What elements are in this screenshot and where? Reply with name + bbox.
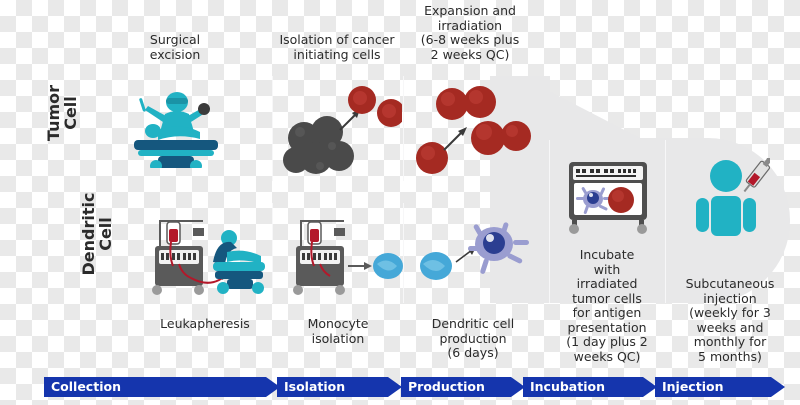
timeline-step-production[interactable]: Production	[401, 377, 511, 397]
divider-top-1	[272, 76, 273, 181]
timeline-step-collection[interactable]: Collection	[44, 377, 266, 397]
dendritic-cell-label-line2: Cell	[97, 192, 114, 276]
monocyte-to-dendritic-icon	[414, 218, 534, 298]
caption-incubation: Incubate with irradiated tumor cells for…	[550, 248, 664, 364]
timeline-label-incubation: Incubation	[523, 377, 605, 397]
caption-dendritic-cell-production: Dendritic cell production (6 days)	[408, 317, 538, 361]
patient-syringe-icon	[688, 158, 770, 236]
timeline-label-collection: Collection	[44, 377, 121, 397]
apheresis-machine-monocyte-icon	[284, 216, 404, 302]
timeline-label-production: Production	[401, 377, 485, 397]
process-timeline: Collection Isolation Production Incubati…	[0, 377, 800, 399]
tumor-cell-label-line2: Cell	[62, 71, 79, 155]
caption-isolation-cancer-initiating-cells: Isolation of cancer initiating cells	[262, 33, 412, 62]
timeline-step-incubation[interactable]: Incubation	[523, 377, 643, 397]
timeline-step-injection[interactable]: Injection	[655, 377, 771, 397]
dendritic-cell-label-line1: Dendritic	[80, 192, 97, 276]
tumor-cluster-icon	[282, 86, 402, 178]
caption-monocyte-isolation: Monocyte isolation	[278, 317, 398, 346]
divider-bottom-1	[272, 203, 273, 303]
caption-leukapheresis: Leukapheresis	[135, 317, 275, 332]
tumor-cell-label-line1: Tumor	[45, 71, 62, 155]
caption-injection: Subcutaneous injection (weekly for 3 wee…	[666, 277, 794, 364]
incubator-icon	[563, 160, 653, 236]
timeline-label-injection: Injection	[655, 377, 723, 397]
apheresis-machine-patient-icon	[143, 216, 269, 302]
timeline-label-isolation: Isolation	[277, 377, 345, 397]
dendritic-cell-lane-label: Dendritic Cell	[80, 192, 114, 276]
caption-surgical-excision: Surgical excision	[120, 33, 230, 62]
timeline-step-isolation[interactable]: Isolation	[277, 377, 388, 397]
tumor-cell-lane-label: Tumor Cell	[45, 71, 79, 155]
caption-expansion-irradiation: Expansion and irradiation (6-8 weeks plu…	[400, 4, 540, 62]
surgery-icon	[128, 88, 224, 168]
irradiated-tumor-cells-icon	[404, 84, 540, 178]
process-flow-diagram: Tumor Cell Dendritic Cell Surgical excis…	[0, 0, 800, 405]
